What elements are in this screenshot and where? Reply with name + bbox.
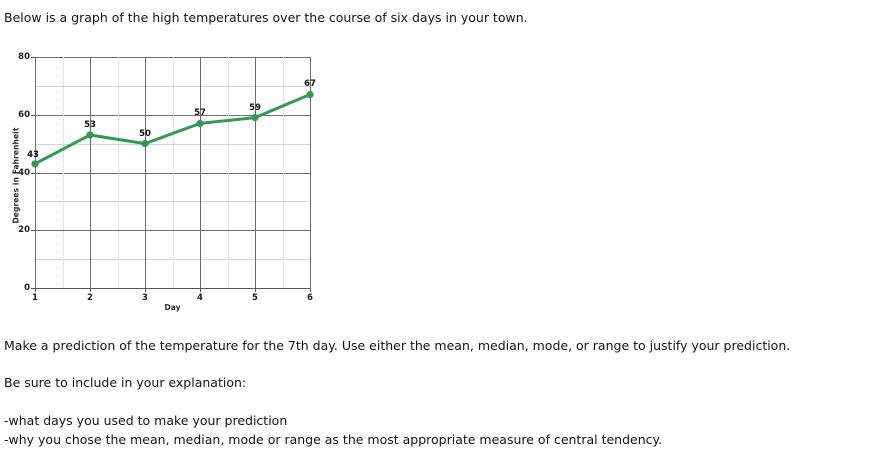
data-point-day-2: [86, 131, 93, 138]
x-tick-mark-2: [90, 288, 91, 292]
x-tick-mark-1: [35, 288, 36, 292]
bullet-item-2: -why you chose the mean, median, mode or…: [4, 432, 662, 448]
y-tick-label-0: 0: [0, 283, 30, 293]
temperature-line-chart: Degrees in Fahrenheit Day 020406080 1234…: [0, 45, 330, 320]
point-value-label-day-4: 57: [185, 108, 215, 118]
plot-area: [35, 57, 310, 288]
x-tick-label-6: 6: [300, 293, 320, 303]
x-tick-label-4: 4: [190, 293, 210, 303]
x-tick-mark-5: [255, 288, 256, 292]
y-tick-mark-60: [31, 115, 35, 116]
data-point-day-5: [251, 114, 258, 121]
series-line: [35, 57, 310, 288]
y-tick-mark-20: [31, 230, 35, 231]
instruction-text: Be sure to include in your explanation:: [4, 375, 246, 391]
y-tick-label-20: 20: [0, 225, 30, 235]
y-tick-mark-40: [31, 173, 35, 174]
y-tick-label-80: 80: [0, 52, 30, 62]
x-tick-label-1: 1: [25, 293, 45, 303]
data-point-day-3: [141, 140, 148, 147]
question-text: Make a prediction of the temperature for…: [4, 338, 790, 354]
point-value-label-day-5: 59: [240, 103, 270, 113]
gridline-y-0: [35, 288, 310, 289]
x-tick-mark-4: [200, 288, 201, 292]
data-point-day-4: [196, 120, 203, 127]
x-tick-label-5: 5: [245, 293, 265, 303]
x-tick-label-3: 3: [135, 293, 155, 303]
point-value-label-day-3: 50: [130, 129, 160, 139]
intro-text: Below is a graph of the high temperature…: [4, 10, 528, 26]
x-tick-mark-6: [310, 288, 311, 292]
y-tick-label-60: 60: [0, 110, 30, 120]
data-point-day-6: [306, 91, 313, 98]
y-tick-mark-80: [31, 57, 35, 58]
point-value-label-day-6: 67: [295, 79, 325, 89]
x-tick-label-2: 2: [80, 293, 100, 303]
data-point-day-1: [31, 160, 38, 167]
y-tick-label-40: 40: [0, 168, 30, 178]
x-tick-mark-3: [145, 288, 146, 292]
point-value-label-day-2: 53: [75, 120, 105, 130]
point-value-label-day-1: 43: [18, 150, 48, 160]
x-axis-title: Day: [35, 303, 310, 312]
bullet-item-1: -what days you used to make your predict…: [4, 413, 287, 429]
